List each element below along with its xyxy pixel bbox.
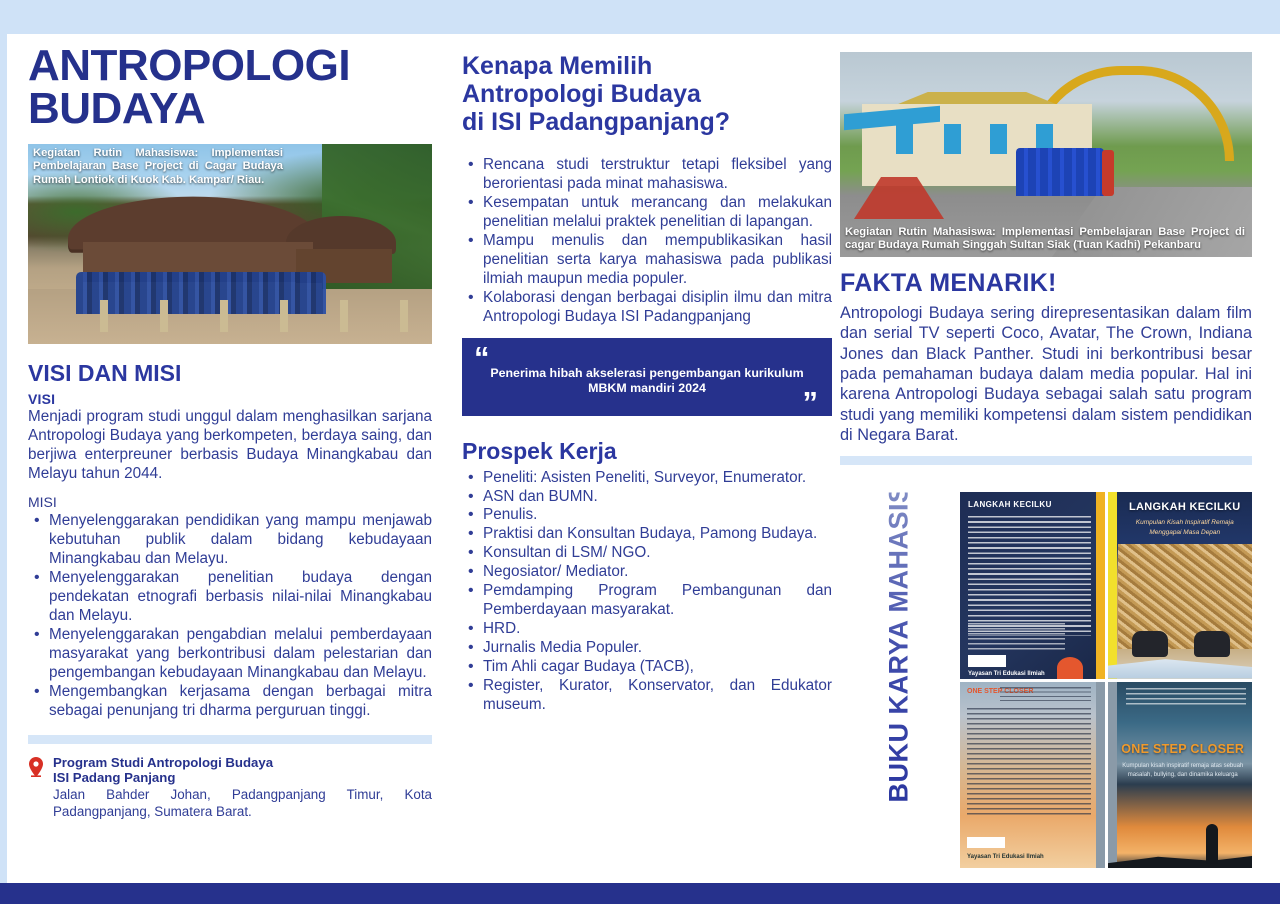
visi-misi-heading: VISI DAN MISI [28, 360, 432, 387]
book-spine-decor [1096, 682, 1105, 869]
list-item: Register, Kurator, Konservator, dan Eduk… [483, 677, 832, 715]
left-divider [28, 735, 432, 744]
book-publisher: Yayasan Tri Edukasi Ilmiah [968, 671, 1045, 677]
book-header-decor [1000, 687, 1091, 701]
book-shoe-decor [1132, 631, 1168, 657]
prospek-kerja-heading: Prospek Kerja [462, 438, 832, 465]
visi-text: Menjadi program studi unggul dalam mengh… [28, 408, 432, 484]
book-spine-decor [1108, 682, 1117, 869]
misi-list: Menyelenggarakan pendidikan yang mampu m… [28, 512, 432, 720]
page-title: ANTROPOLOGI BUDAYA [28, 44, 432, 130]
page-title-line1: ANTROPOLOGI [28, 41, 350, 90]
book-blurb-decor [967, 708, 1091, 816]
photo-red-shirt-person-decor [1102, 150, 1114, 196]
reasons-list: Rencana studi terstruktur tetapi fleksib… [462, 156, 832, 327]
book-cover-one-step-closer-front: ONE STEP CLOSER Kumpulan kisah inspirati… [1108, 682, 1253, 869]
book-blurb-decor [968, 516, 1091, 636]
kenapa-heading-line2: Antropologi Budaya [462, 80, 701, 108]
book-cover-langkah-kecilku-front: LANGKAH KECILKU Kumpulan Kisah Inspirati… [1108, 492, 1253, 679]
photo-window-decor [896, 124, 913, 154]
list-item: Menyelenggarakan penelitian budaya denga… [49, 569, 432, 626]
quote-close-mark: ” [803, 387, 819, 418]
brochure-page: ANTROPOLOGI BUDAYA Kegiatan Rutin Mahasi… [0, 0, 1280, 904]
book-cover-langkah-kecilku-back: LANGKAH KECILKU Yayasan Tri Edukasi Ilmi… [960, 492, 1105, 679]
book-publisher: Yayasan Tri Edukasi Ilmiah [967, 854, 1044, 860]
book-subtitle: Kumpulan Kisah Inspiratif Remaja Menggap… [1124, 518, 1247, 538]
prospek-list: Peneliti: Asisten Peneliti, Surveyor, En… [462, 469, 832, 715]
photo-rumah-singgah: Kegiatan Rutin Mahasiswa: Implementasi P… [840, 52, 1252, 257]
photo-rumah-singgah-caption: Kegiatan Rutin Mahasiswa: Implementasi P… [845, 226, 1245, 252]
fakta-menarik-heading: FAKTA MENARIK! [840, 269, 1252, 298]
visi-label: VISI [28, 391, 432, 407]
quote-text: Penerima hibah akselerasi pengembangan k… [462, 366, 832, 397]
list-item: Jurnalis Media Populer. [483, 639, 832, 658]
list-item: Menyelenggarakan pendidikan yang mampu m… [49, 512, 432, 569]
photo-fence-decor [48, 300, 418, 332]
page-title-line2: BUDAYA [28, 84, 205, 133]
book-cover-one-step-closer-back: ONE STEP CLOSER Yayasan Tri Edukasi Ilmi… [960, 682, 1105, 869]
list-item: Kolaborasi dengan berbagai disiplin ilmu… [483, 289, 832, 327]
list-item: Rencana studi terstruktur tetapi fleksib… [483, 156, 832, 194]
bottom-accent-band [0, 883, 1280, 904]
middle-column: Kenapa Memilih Antropologi Budaya di ISI… [462, 52, 832, 715]
photo-rumah-lontiok-caption: Kegiatan Rutin Mahasiswa: Implementasi P… [33, 147, 283, 187]
book-title: ONE STEP CLOSER [1120, 742, 1247, 756]
book-covers-grid: LANGKAH KECILKU Yayasan Tri Edukasi Ilmi… [960, 492, 1252, 868]
location-pin-icon [28, 755, 44, 784]
book-title: LANGKAH KECILKU [1124, 501, 1247, 513]
address-line1: Program Studi Antropologi Budaya [53, 755, 432, 771]
list-item: Kesempatan untuk merancang dan melakukan… [483, 194, 832, 232]
photo-rumah-lontiok: Kegiatan Rutin Mahasiswa: Implementasi P… [28, 144, 432, 344]
kenapa-memilih-heading: Kenapa Memilih Antropologi Budaya di ISI… [462, 52, 832, 136]
quote-box: “ Penerima hibah akselerasi pengembangan… [462, 338, 832, 416]
left-accent-strip [0, 34, 7, 883]
photo-window-decor [944, 124, 961, 154]
list-item: Pemdamping Program Pembangunan dan Pembe… [483, 582, 832, 620]
misi-label: MISI [28, 494, 432, 510]
book-authors-decor [1126, 688, 1247, 706]
address-line3: Jalan Bahder Johan, Padangpanjang Timur,… [53, 787, 432, 820]
photo-window-decor [990, 124, 1007, 154]
list-item: Negosiator/ Mediator. [483, 563, 832, 582]
book-spine-decor [1108, 492, 1117, 679]
book-silhouette-decor [1206, 824, 1218, 864]
book-hill-decor [1108, 852, 1253, 868]
top-accent-band [0, 0, 1280, 34]
kenapa-heading-line1: Kenapa Memilih [462, 52, 652, 80]
publisher-logo-icon [967, 837, 1005, 848]
right-column: Kegiatan Rutin Mahasiswa: Implementasi P… [840, 52, 1252, 473]
list-item: Tim Ahli cagar Budaya (TACB), [483, 658, 832, 677]
address-text: Program Studi Antropologi Budaya ISI Pad… [53, 755, 432, 820]
book-subtitle: Kumpulan kisah inspiratif remaja atas se… [1122, 762, 1245, 780]
book-art-decor [1057, 657, 1083, 679]
address-block: Program Studi Antropologi Budaya ISI Pad… [28, 755, 432, 820]
list-item: ASN dan BUMN. [483, 488, 832, 507]
address-line2: ISI Padang Panjang [53, 770, 432, 786]
left-column: ANTROPOLOGI BUDAYA Kegiatan Rutin Mahasi… [28, 44, 432, 820]
book-credits-decor [968, 623, 1065, 653]
list-item: Praktisi dan Konsultan Budaya, Pamong Bu… [483, 525, 832, 544]
buku-karya-mahasiswa-label: BUKU KARYA MAHASISWA [884, 493, 915, 803]
book-title: LANGKAH KECILKU [968, 500, 1052, 509]
list-item: Penulis. [483, 506, 832, 525]
kenapa-heading-line3: di ISI Padangpanjang? [462, 108, 730, 136]
publisher-logo-icon [968, 655, 1006, 667]
list-item: Peneliti: Asisten Peneliti, Surveyor, En… [483, 469, 832, 488]
list-item: Mampu menulis dan mempublikasikan hasil … [483, 232, 832, 289]
list-item: Menyelenggarakan pengabdian melalui pemb… [49, 626, 432, 683]
list-item: Mengembangkan kerjasama dengan berbagai … [49, 683, 432, 721]
book-shoe-decor [1194, 631, 1230, 657]
list-item: HRD. [483, 620, 832, 639]
photo-students-decor [1016, 148, 1104, 196]
list-item: Konsultan di LSM/ NGO. [483, 544, 832, 563]
book-wave-decor [1108, 657, 1253, 679]
book-spine-decor [1096, 492, 1105, 679]
fakta-menarik-text: Antropologi Budaya sering direpresentasi… [840, 303, 1252, 446]
